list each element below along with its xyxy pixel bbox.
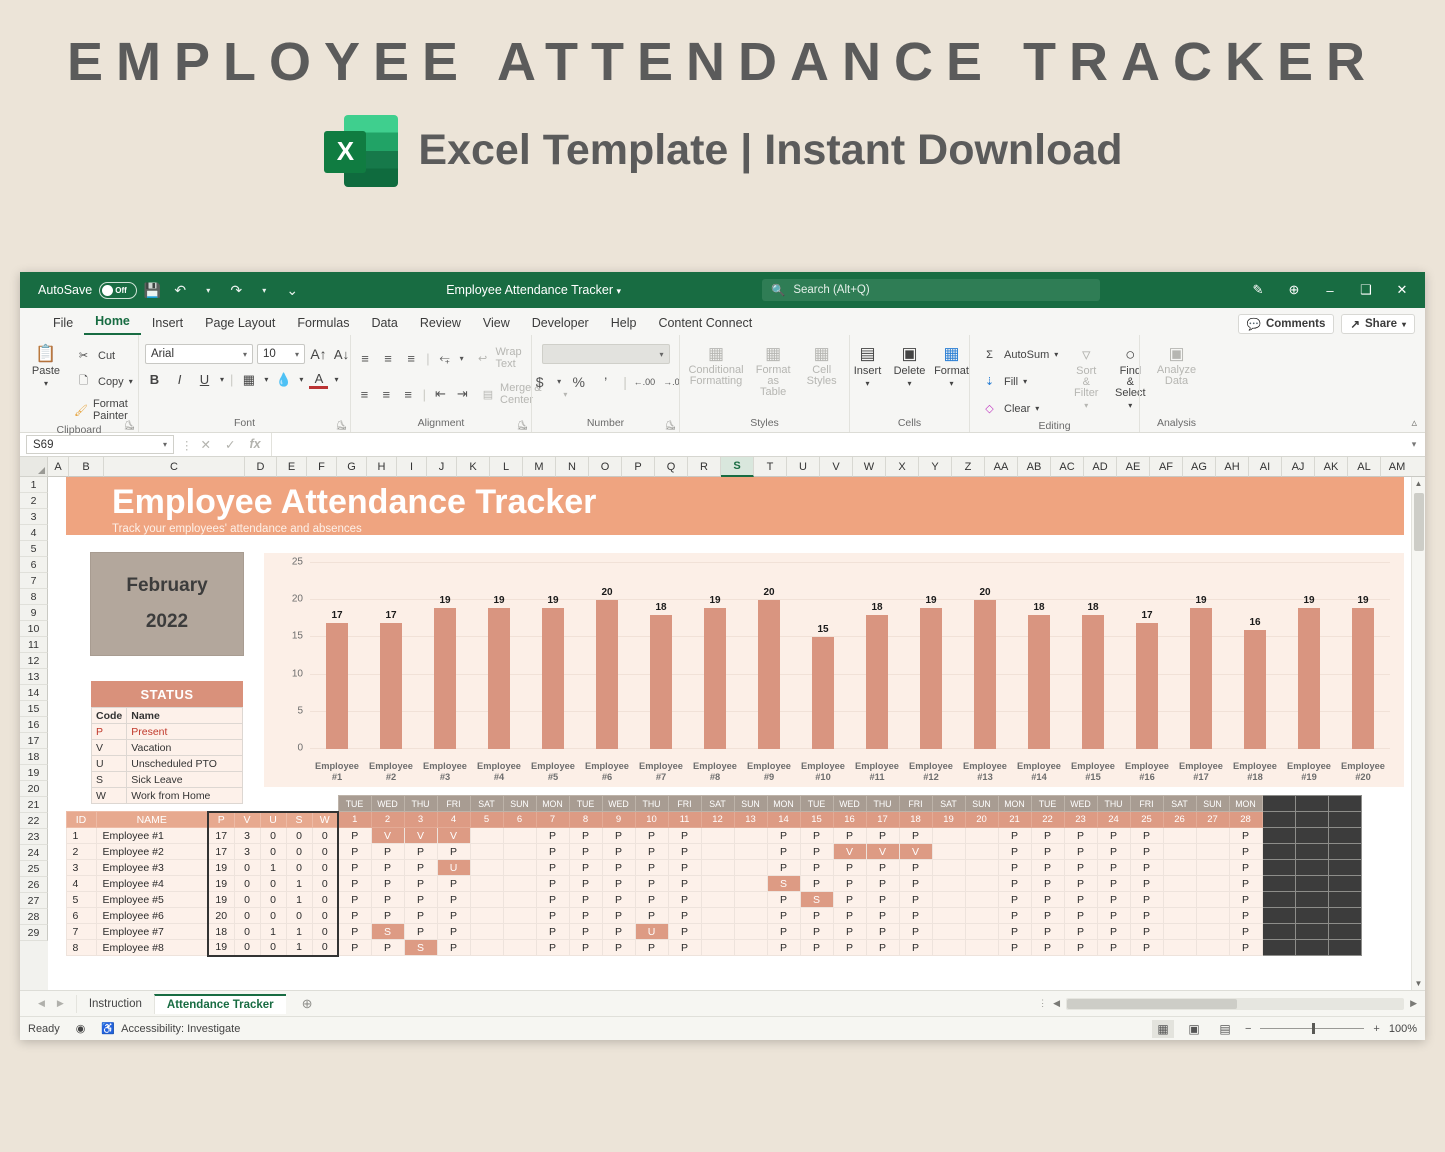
cell-day-9[interactable]: P <box>602 828 635 844</box>
chart-bar[interactable] <box>380 623 402 749</box>
cell-day-4[interactable]: U <box>437 860 470 876</box>
cell-day-12[interactable] <box>701 940 734 956</box>
cell-day-22[interactable]: P <box>1031 940 1064 956</box>
column-header-k[interactable]: K <box>457 457 490 477</box>
cell-day-26[interactable] <box>1163 844 1196 860</box>
chart-bar-column[interactable]: 15 <box>796 563 850 749</box>
align-middle-icon[interactable]: ≡ <box>380 349 396 368</box>
column-header-f[interactable]: F <box>307 457 337 477</box>
table-header-day-1[interactable]: 1 <box>338 812 371 828</box>
column-header-ai[interactable]: AI <box>1249 457 1282 477</box>
cell-day-11[interactable]: P <box>668 876 701 892</box>
cell-day-28[interactable]: P <box>1229 844 1262 860</box>
clear-button[interactable]: ◇ Clear ▾ <box>976 397 1062 420</box>
table-header-day-7[interactable]: 7 <box>536 812 569 828</box>
row-header-12[interactable]: 12 <box>20 653 48 669</box>
table-header-day-20[interactable]: 20 <box>965 812 998 828</box>
table-header-day-14[interactable]: 14 <box>767 812 800 828</box>
cell-day-17[interactable]: P <box>866 940 899 956</box>
decrease-decimal-icon[interactable]: →.0 <box>662 372 681 391</box>
chart-bar-column[interactable]: 20 <box>580 563 634 749</box>
cell-day-5[interactable] <box>470 844 503 860</box>
cell-day-24[interactable]: P <box>1097 860 1130 876</box>
cell-day-16[interactable]: P <box>833 940 866 956</box>
cell-day-2[interactable]: P <box>371 892 404 908</box>
cell-name[interactable]: Employee #1 <box>96 828 208 844</box>
cell-day-16[interactable]: V <box>833 844 866 860</box>
cell-day-27[interactable] <box>1196 908 1229 924</box>
cell-id[interactable]: 8 <box>66 940 96 956</box>
table-header-day-3[interactable]: 3 <box>404 812 437 828</box>
table-row[interactable]: 1Employee #1173000PVVVPPPPPPPPPPPPPPPP <box>48 828 1361 844</box>
cell-day-18[interactable]: P <box>899 860 932 876</box>
cell-day-8[interactable]: P <box>569 860 602 876</box>
cell-day-1[interactable]: P <box>338 860 371 876</box>
cell-day-15[interactable]: S <box>800 892 833 908</box>
cell-count-V[interactable]: 0 <box>234 924 260 940</box>
chart-bar[interactable] <box>1244 630 1266 749</box>
cell-day-10[interactable]: P <box>635 844 668 860</box>
cell-count-P[interactable]: 17 <box>208 828 234 844</box>
cell-day-5[interactable] <box>470 876 503 892</box>
cell-day-23[interactable]: P <box>1064 876 1097 892</box>
column-header-p[interactable]: P <box>622 457 655 477</box>
table-header-code-W[interactable]: W <box>312 812 338 828</box>
cell-day-23[interactable]: P <box>1064 908 1097 924</box>
table-header-day-8[interactable]: 8 <box>569 812 602 828</box>
align-right-icon[interactable]: ≡ <box>401 385 416 404</box>
column-header-m[interactable]: M <box>523 457 556 477</box>
cell-day-3[interactable]: S <box>404 940 437 956</box>
cell-count-V[interactable]: 3 <box>234 828 260 844</box>
cell-count-S[interactable]: 0 <box>286 844 312 860</box>
chart-bar-column[interactable]: 19 <box>688 563 742 749</box>
month-year-card[interactable]: February 2022 <box>91 553 243 655</box>
cell-day-19[interactable] <box>932 828 965 844</box>
cell-day-7[interactable]: P <box>536 828 569 844</box>
row-header-4[interactable]: 4 <box>20 525 48 541</box>
table-header-day-12[interactable]: 12 <box>701 812 734 828</box>
collapse-ribbon-icon[interactable]: ▵ <box>1411 416 1417 429</box>
cell-day-23[interactable]: P <box>1064 940 1097 956</box>
cell-day-16[interactable]: P <box>833 892 866 908</box>
cell-day-21[interactable]: P <box>998 924 1031 940</box>
table-header-day-23[interactable]: 23 <box>1064 812 1097 828</box>
cell-day-8[interactable]: P <box>569 844 602 860</box>
table-header-day-6[interactable]: 6 <box>503 812 536 828</box>
cell-day-2[interactable]: S <box>371 924 404 940</box>
attendance-table[interactable]: TUEWEDTHUFRISATSUNMONTUEWEDTHUFRISATSUNM… <box>48 795 1362 957</box>
cell-day-26[interactable] <box>1163 892 1196 908</box>
table-row[interactable]: 8Employee #8190010PPSPPPPPPPPPPPPPPPPP <box>48 940 1361 956</box>
cell-day-10[interactable]: P <box>635 860 668 876</box>
row-header-2[interactable]: 2 <box>20 493 48 509</box>
cell-day-1[interactable]: P <box>338 924 371 940</box>
cell-day-25[interactable]: P <box>1130 860 1163 876</box>
cell-id[interactable]: 3 <box>66 860 96 876</box>
cell-day-14[interactable]: P <box>767 940 800 956</box>
align-center-icon[interactable]: ≡ <box>379 385 394 404</box>
cell-day-20[interactable] <box>965 892 998 908</box>
cell-name[interactable]: Employee #7 <box>96 924 208 940</box>
table-header-day-28[interactable]: 28 <box>1229 812 1262 828</box>
cell-day-15[interactable]: P <box>800 940 833 956</box>
cell-count-W[interactable]: 0 <box>312 876 338 892</box>
cell-day-22[interactable]: P <box>1031 860 1064 876</box>
cell-day-7[interactable]: P <box>536 924 569 940</box>
cell-day-22[interactable]: P <box>1031 828 1064 844</box>
column-header-a[interactable]: A <box>48 457 69 477</box>
cell-count-P[interactable]: 18 <box>208 924 234 940</box>
row-header-8[interactable]: 8 <box>20 589 48 605</box>
column-header-e[interactable]: E <box>277 457 307 477</box>
cell-count-U[interactable]: 0 <box>260 876 286 892</box>
pen-icon[interactable]: ✎ <box>1241 276 1275 304</box>
page-break-icon[interactable]: ▤ <box>1214 1020 1236 1038</box>
cell-day-28[interactable]: P <box>1229 828 1262 844</box>
fill-button[interactable]: ⇣ Fill ▾ <box>976 370 1062 393</box>
clipboard-dialog-launcher-icon[interactable]: ⛸ <box>124 420 135 431</box>
cell-day-28[interactable]: P <box>1229 892 1262 908</box>
underline-icon[interactable]: U <box>195 370 214 389</box>
tab-insert[interactable]: Insert <box>141 313 194 335</box>
chart-bar-column[interactable]: 17 <box>1120 563 1174 749</box>
row-header-10[interactable]: 10 <box>20 621 48 637</box>
cell-day-17[interactable]: P <box>866 860 899 876</box>
cell-day-28[interactable]: P <box>1229 860 1262 876</box>
grow-font-icon[interactable]: A↑ <box>309 345 328 364</box>
cell-day-9[interactable]: P <box>602 940 635 956</box>
column-header-h[interactable]: H <box>367 457 397 477</box>
cell-day-7[interactable]: P <box>536 892 569 908</box>
cell-day-15[interactable]: P <box>800 876 833 892</box>
cell-day-18[interactable]: P <box>899 924 932 940</box>
presence-icon[interactable]: ⊕ <box>1277 276 1311 304</box>
cell-count-W[interactable]: 0 <box>312 844 338 860</box>
cell-day-8[interactable]: P <box>569 876 602 892</box>
chart-bar-column[interactable]: 20 <box>958 563 1012 749</box>
chart-bar-column[interactable]: 16 <box>1228 563 1282 749</box>
normal-view-icon[interactable]: ▦ <box>1152 1020 1174 1038</box>
restore-icon[interactable]: ❑ <box>1349 276 1383 304</box>
chart-bar[interactable] <box>434 608 456 749</box>
chevron-down-icon[interactable]: ▾ <box>460 354 464 363</box>
row-header-1[interactable]: 1 <box>20 477 48 493</box>
font-size-input[interactable]: 10 ▾ <box>257 344 305 364</box>
share-button[interactable]: ↗ Share ▾ <box>1341 314 1415 334</box>
column-header-u[interactable]: U <box>787 457 820 477</box>
row-header-19[interactable]: 19 <box>20 765 48 781</box>
chart-bar[interactable] <box>758 600 780 749</box>
chart-bar-column[interactable]: 20 <box>742 563 796 749</box>
cell-day-13[interactable] <box>734 828 767 844</box>
table-row[interactable]: 5Employee #5190010PPPPPPPPPPSPPPPPPPPP <box>48 892 1361 908</box>
cell-count-W[interactable]: 0 <box>312 908 338 924</box>
cell-day-13[interactable] <box>734 940 767 956</box>
scroll-down-icon[interactable]: ▼ <box>1415 979 1423 988</box>
cell-day-28[interactable]: P <box>1229 876 1262 892</box>
borders-icon[interactable]: ▦ <box>239 370 258 389</box>
cell-count-V[interactable]: 0 <box>234 940 260 956</box>
cell-day-26[interactable] <box>1163 940 1196 956</box>
autosave-switch[interactable]: Off <box>99 282 137 299</box>
cell-day-21[interactable]: P <box>998 940 1031 956</box>
column-header-d[interactable]: D <box>245 457 277 477</box>
chart-bar[interactable] <box>1352 608 1374 749</box>
cell-count-P[interactable]: 20 <box>208 908 234 924</box>
expand-formula-bar-icon[interactable]: ▾ <box>1403 439 1425 450</box>
cell-day-2[interactable]: P <box>371 876 404 892</box>
cell-day-15[interactable]: P <box>800 860 833 876</box>
cell-day-21[interactable]: P <box>998 876 1031 892</box>
tab-view[interactable]: View <box>472 313 521 335</box>
cell-day-13[interactable] <box>734 908 767 924</box>
cell-day-1[interactable]: P <box>338 940 371 956</box>
increase-indent-icon[interactable]: ⇥ <box>455 385 470 404</box>
cell-day-19[interactable] <box>932 924 965 940</box>
cell-day-2[interactable]: P <box>371 860 404 876</box>
cell-day-6[interactable] <box>503 876 536 892</box>
row-header-17[interactable]: 17 <box>20 733 48 749</box>
cell-day-20[interactable] <box>965 844 998 860</box>
cell-count-P[interactable]: 19 <box>208 860 234 876</box>
chart-bar-column[interactable]: 19 <box>526 563 580 749</box>
chart-bar[interactable] <box>1082 615 1104 749</box>
minimize-icon[interactable]: – <box>1313 276 1347 304</box>
table-header-day-16[interactable]: 16 <box>833 812 866 828</box>
column-header-ad[interactable]: AD <box>1084 457 1117 477</box>
workbook-title[interactable]: Employee Attendance Tracker ▾ <box>446 283 621 297</box>
cell-day-27[interactable] <box>1196 844 1229 860</box>
cell-day-17[interactable]: P <box>866 876 899 892</box>
cell-day-12[interactable] <box>701 860 734 876</box>
chart-bar-column[interactable]: 19 <box>418 563 472 749</box>
tab-review[interactable]: Review <box>409 313 472 335</box>
cell-count-U[interactable]: 0 <box>260 908 286 924</box>
cell-day-20[interactable] <box>965 860 998 876</box>
tab-file[interactable]: File <box>42 313 84 335</box>
cell-day-25[interactable]: P <box>1130 892 1163 908</box>
cell-day-4[interactable]: P <box>437 876 470 892</box>
cell-day-28[interactable]: P <box>1229 908 1262 924</box>
cell-count-S[interactable]: 1 <box>286 876 312 892</box>
bold-icon[interactable]: B <box>145 370 164 389</box>
cell-day-24[interactable]: P <box>1097 828 1130 844</box>
tab-developer[interactable]: Developer <box>521 313 600 335</box>
analyze-data-button[interactable]: ▣ Analyze Data <box>1149 342 1205 389</box>
check-icon[interactable]: ✓ <box>225 437 235 452</box>
cell-day-21[interactable]: P <box>998 892 1031 908</box>
column-header-am[interactable]: AM <box>1381 457 1411 477</box>
chart-bar[interactable] <box>1136 623 1158 749</box>
cell-day-19[interactable] <box>932 876 965 892</box>
cell-day-24[interactable]: P <box>1097 892 1130 908</box>
row-header-11[interactable]: 11 <box>20 637 48 653</box>
cell-count-U[interactable]: 1 <box>260 924 286 940</box>
cell-day-9[interactable]: P <box>602 860 635 876</box>
align-bottom-icon[interactable]: ≡ <box>403 349 419 368</box>
redo-icon[interactable]: ↷ <box>223 277 249 303</box>
chart-bar-column[interactable]: 18 <box>634 563 688 749</box>
cell-day-3[interactable]: P <box>404 892 437 908</box>
cell-day-3[interactable]: P <box>404 908 437 924</box>
column-header-b[interactable]: B <box>69 457 104 477</box>
cell-name[interactable]: Employee #3 <box>96 860 208 876</box>
cell-day-2[interactable]: P <box>371 908 404 924</box>
cell-day-23[interactable]: P <box>1064 860 1097 876</box>
row-header-5[interactable]: 5 <box>20 541 48 557</box>
cell-day-20[interactable] <box>965 924 998 940</box>
zoom-slider[interactable] <box>1260 1023 1364 1035</box>
table-header-name[interactable]: NAME <box>96 812 208 828</box>
cell-count-V[interactable]: 0 <box>234 860 260 876</box>
table-header-day-10[interactable]: 10 <box>635 812 668 828</box>
cell-day-14[interactable]: P <box>767 844 800 860</box>
cell-day-6[interactable] <box>503 908 536 924</box>
cell-day-14[interactable]: P <box>767 892 800 908</box>
cell-id[interactable]: 7 <box>66 924 96 940</box>
cell-day-24[interactable]: P <box>1097 908 1130 924</box>
page-layout-icon[interactable]: ▣ <box>1183 1020 1205 1038</box>
cell-day-3[interactable]: P <box>404 844 437 860</box>
cell-day-18[interactable]: P <box>899 876 932 892</box>
cell-count-V[interactable]: 0 <box>234 876 260 892</box>
cell-day-20[interactable] <box>965 876 998 892</box>
vertical-scrollbar[interactable]: ▲ ▼ <box>1411 477 1425 990</box>
tab-formulas[interactable]: Formulas <box>286 313 360 335</box>
cell-day-22[interactable]: P <box>1031 908 1064 924</box>
cell-day-8[interactable]: P <box>569 828 602 844</box>
zoom-knob[interactable] <box>1312 1023 1315 1034</box>
chart-bar[interactable] <box>920 608 942 749</box>
cell-day-5[interactable] <box>470 940 503 956</box>
autosave-toggle[interactable]: AutoSave Off <box>38 282 137 299</box>
row-header-18[interactable]: 18 <box>20 749 48 765</box>
cell-day-5[interactable] <box>470 908 503 924</box>
sheet-next-icon[interactable]: ▶ <box>57 998 64 1009</box>
cell-day-19[interactable] <box>932 940 965 956</box>
cell-count-S[interactable]: 1 <box>286 892 312 908</box>
chevron-down-icon[interactable]: ▾ <box>299 375 303 384</box>
chart-bar[interactable] <box>974 600 996 749</box>
table-row[interactable]: 2Employee #2173000PPPPPPPPPPPVVVPPPPPP <box>48 844 1361 860</box>
cell-count-S[interactable]: 0 <box>286 908 312 924</box>
h-scroll-right-icon[interactable]: ▶ <box>1410 998 1417 1009</box>
cell-count-W[interactable]: 0 <box>312 892 338 908</box>
cell-day-12[interactable] <box>701 908 734 924</box>
number-format-select[interactable]: ▾ <box>542 344 670 364</box>
table-header-day-2[interactable]: 2 <box>371 812 404 828</box>
column-header-z[interactable]: Z <box>952 457 985 477</box>
table-header-day-22[interactable]: 22 <box>1031 812 1064 828</box>
autosum-button[interactable]: Σ AutoSum ▾ <box>976 343 1062 366</box>
font-name-input[interactable]: Arial ▾ <box>145 344 253 364</box>
fx-icon[interactable]: fx <box>249 437 260 452</box>
column-header-t[interactable]: T <box>754 457 787 477</box>
chart-bar[interactable] <box>704 608 726 749</box>
table-header-day-25[interactable]: 25 <box>1130 812 1163 828</box>
save-icon[interactable]: 💾 <box>139 277 165 303</box>
cell-day-10[interactable]: P <box>635 876 668 892</box>
cell-count-V[interactable]: 0 <box>234 908 260 924</box>
cell-day-23[interactable]: P <box>1064 924 1097 940</box>
chart-bar[interactable] <box>650 615 672 749</box>
copy-button[interactable]: 🗋 Copy ▾ <box>70 370 137 393</box>
cell-day-22[interactable]: P <box>1031 844 1064 860</box>
cell-count-P[interactable]: 17 <box>208 844 234 860</box>
cell-day-9[interactable]: P <box>602 876 635 892</box>
cell-day-17[interactable]: P <box>866 924 899 940</box>
cell-day-6[interactable] <box>503 844 536 860</box>
chart-bar[interactable] <box>812 637 834 749</box>
cell-count-U[interactable]: 0 <box>260 844 286 860</box>
cell-day-22[interactable]: P <box>1031 892 1064 908</box>
cell-count-U[interactable]: 0 <box>260 940 286 956</box>
column-header-al[interactable]: AL <box>1348 457 1381 477</box>
sort-filter-button[interactable]: ▿ Sort & Filter ▾ <box>1066 343 1106 412</box>
cell-id[interactable]: 5 <box>66 892 96 908</box>
orientation-icon[interactable]: ⥆ <box>437 349 453 368</box>
cell-day-24[interactable]: P <box>1097 876 1130 892</box>
cell-day-18[interactable]: P <box>899 940 932 956</box>
increase-decimal-icon[interactable]: ←.00 <box>635 372 654 391</box>
decrease-indent-icon[interactable]: ⇤ <box>433 385 448 404</box>
cell-day-19[interactable] <box>932 892 965 908</box>
select-all-corner[interactable] <box>20 457 48 477</box>
fill-color-icon[interactable]: 💧 <box>274 370 293 389</box>
table-row[interactable]: 4Employee #4190010PPPPPPPPPSPPPPPPPPPP <box>48 876 1361 892</box>
format-as-table-button[interactable]: ▦ Format as Table <box>748 342 798 400</box>
chart-bar-column[interactable]: 19 <box>1282 563 1336 749</box>
chart-bar[interactable] <box>866 615 888 749</box>
cell-day-14[interactable]: P <box>767 860 800 876</box>
row-header-14[interactable]: 14 <box>20 685 48 701</box>
align-left-icon[interactable]: ≡ <box>357 385 372 404</box>
cell-day-1[interactable]: P <box>338 876 371 892</box>
cell-day-24[interactable]: P <box>1097 940 1130 956</box>
cell-day-5[interactable] <box>470 860 503 876</box>
cell-day-10[interactable]: P <box>635 892 668 908</box>
format-cells-button[interactable]: ▦ Format ▾ <box>932 342 972 390</box>
cell-day-7[interactable]: P <box>536 844 569 860</box>
cell-day-9[interactable]: P <box>602 908 635 924</box>
cell-day-4[interactable]: P <box>437 924 470 940</box>
chevron-down-icon[interactable]: ▾ <box>264 375 268 384</box>
delete-cells-button[interactable]: ▣ Delete ▾ <box>890 342 930 390</box>
horizontal-scrollbar[interactable] <box>1066 998 1404 1010</box>
cell-day-4[interactable]: P <box>437 908 470 924</box>
column-header-j[interactable]: J <box>427 457 457 477</box>
number-dialog-launcher-icon[interactable]: ⛸ <box>665 420 676 431</box>
add-sheet-icon[interactable]: ⊕ <box>302 996 313 1012</box>
cell-day-6[interactable] <box>503 924 536 940</box>
cell-count-S[interactable]: 0 <box>286 860 312 876</box>
column-header-aj[interactable]: AJ <box>1282 457 1315 477</box>
chart-bar-column[interactable]: 17 <box>310 563 364 749</box>
cell-id[interactable]: 1 <box>66 828 96 844</box>
cell-day-11[interactable]: P <box>668 908 701 924</box>
cell-day-27[interactable] <box>1196 892 1229 908</box>
cell-day-12[interactable] <box>701 828 734 844</box>
chart-bar-column[interactable]: 18 <box>1066 563 1120 749</box>
table-header-day-21[interactable]: 21 <box>998 812 1031 828</box>
table-header-day-9[interactable]: 9 <box>602 812 635 828</box>
chart-bar-column[interactable]: 18 <box>1012 563 1066 749</box>
cell-day-21[interactable]: P <box>998 908 1031 924</box>
conditional-formatting-button[interactable]: ▦ Conditional Formatting <box>686 342 746 389</box>
tab-help[interactable]: Help <box>600 313 648 335</box>
zoom-level[interactable]: 100% <box>1389 1023 1417 1035</box>
